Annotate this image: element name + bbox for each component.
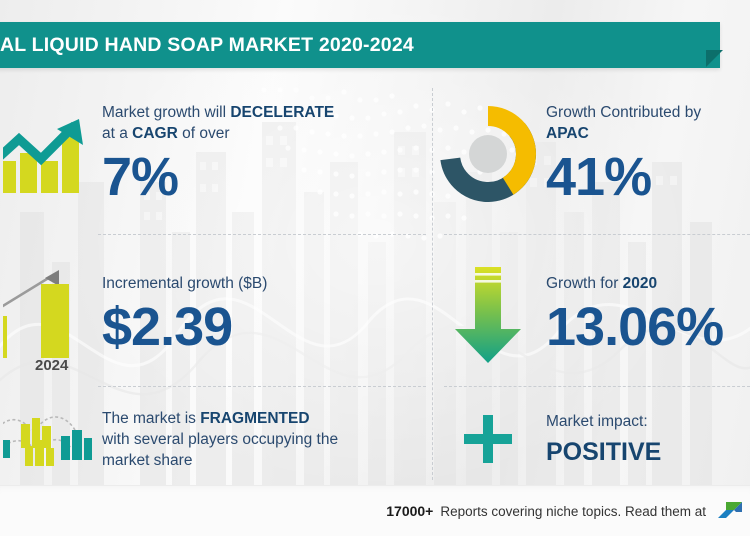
market-impact-text: Market impact: POSITIVE — [542, 411, 750, 467]
fragmented-network-icon — [0, 394, 98, 484]
page-title: AL LIQUID HAND SOAP MARKET 2020-2024 — [0, 34, 414, 57]
stat-block-incremental-growth: 9 2024 Incremental growth ($B) $2.39 — [0, 244, 432, 384]
fragmentation-line-1-strong: FRAGMENTED — [200, 410, 309, 427]
cagr-label: Market growth will DECELERATE at a CAGR … — [102, 102, 432, 144]
fragmentation-line-3: market share — [102, 452, 192, 469]
content-area: Market growth will DECELERATE at a CAGR … — [0, 74, 750, 484]
fragmentation-label: The market is FRAGMENTED with several pl… — [102, 408, 432, 471]
incremental-growth-text: Incremental growth ($B) $2.39 — [98, 273, 432, 356]
svg-text:2024: 2024 — [35, 357, 69, 370]
plus-icon — [434, 394, 542, 484]
stat-block-apac: Growth Contributed by APAC 41% — [434, 80, 750, 228]
stat-block-fragmentation: The market is FRAGMENTED with several pl… — [0, 394, 432, 484]
brand-logo-icon[interactable] — [718, 500, 744, 522]
cagr-label-cagr: CAGR — [132, 125, 178, 142]
apac-label-pre: Growth Contributed by — [546, 104, 701, 121]
growth-2020-text: Growth for 2020 13.06% — [542, 273, 750, 356]
donut-chart-icon — [434, 80, 542, 228]
down-arrow-icon — [434, 244, 542, 384]
apac-value: 41% — [546, 148, 750, 206]
market-impact-label: Market impact: — [546, 411, 750, 432]
cagr-label-decelerate: DECELERATE — [230, 104, 334, 121]
growth-2020-value: 13.06% — [546, 298, 750, 356]
footer-bar: 17000+ Reports covering niche topics. Re… — [0, 485, 750, 536]
fragmentation-line-2: with several players occupying the — [102, 431, 338, 448]
market-impact-value: POSITIVE — [546, 437, 750, 467]
fragmentation-line-1-pre: The market is — [102, 410, 200, 427]
right-column: Growth Contributed by APAC 41% — [434, 74, 750, 484]
cagr-label-pre: Market growth will — [102, 104, 230, 121]
cagr-label-post: of over — [178, 125, 230, 142]
footer-message: Reports covering niche topics. Read them… — [440, 504, 706, 519]
footer-content: 17000+ Reports covering niche topics. Re… — [386, 500, 750, 522]
footer-report-count: 17000+ — [386, 503, 433, 519]
infographic-root: AL LIQUID HAND SOAP MARKET 2020-2024 — [0, 0, 750, 536]
cagr-label-mid: at a — [102, 125, 132, 142]
apac-label-strong: APAC — [546, 125, 589, 142]
bar-chart-growth-icon — [0, 80, 98, 228]
stat-block-cagr: Market growth will DECELERATE at a CAGR … — [0, 80, 432, 228]
incremental-growth-value: $2.39 — [102, 298, 432, 356]
growth-2020-label: Growth for 2020 — [546, 273, 750, 294]
apac-text: Growth Contributed by APAC 41% — [542, 102, 750, 206]
bar-chart-2024-icon: 9 2024 — [0, 244, 98, 384]
stat-block-market-impact: Market impact: POSITIVE — [434, 394, 750, 484]
growth-2020-label-strong: 2020 — [623, 275, 657, 292]
stat-block-growth-2020: Growth for 2020 13.06% — [434, 244, 750, 384]
incremental-growth-label: Incremental growth ($B) — [102, 273, 432, 294]
cagr-text: Market growth will DECELERATE at a CAGR … — [98, 102, 432, 206]
growth-2020-label-pre: Growth for — [546, 275, 623, 292]
header-banner: AL LIQUID HAND SOAP MARKET 2020-2024 — [0, 22, 720, 68]
left-column: Market growth will DECELERATE at a CAGR … — [0, 74, 432, 484]
apac-label: Growth Contributed by APAC — [546, 102, 750, 144]
cagr-value: 7% — [102, 148, 432, 206]
column-divider — [432, 88, 433, 480]
fragmentation-text: The market is FRAGMENTED with several pl… — [98, 408, 432, 471]
banner-fold-corner — [706, 50, 723, 67]
